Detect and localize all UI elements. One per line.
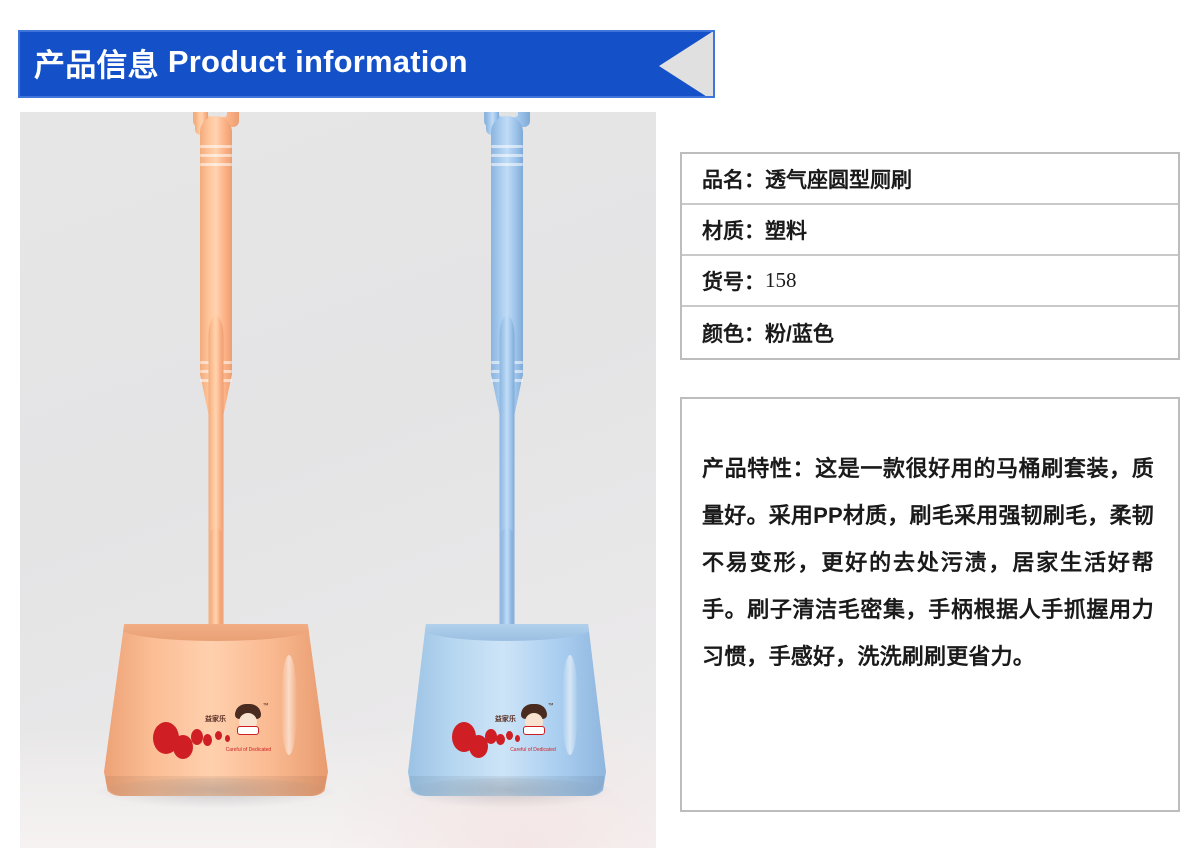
grip-ring: [200, 145, 232, 148]
banner-chevron-notch-icon: [659, 30, 715, 98]
decal-blob: [215, 731, 222, 740]
blue-brush-holder-base: 益家乐 ™ Careful of Dedicated: [408, 624, 606, 796]
decal-trademark: ™: [263, 703, 269, 709]
table-row: 颜色： 粉/蓝色: [682, 307, 1178, 358]
spec-value: 塑料: [765, 215, 807, 245]
product-description-text: 产品特性：这是一款很好用的马桶刷套装，质量好。采用PP材质，刷毛采用强韧刷毛，柔…: [702, 445, 1154, 680]
decal-brand-english: Careful of Dedicated: [510, 747, 556, 753]
decal-blob: [515, 735, 520, 742]
grip-ring: [491, 154, 523, 157]
grip-ring: [200, 154, 232, 157]
decal-trademark: ™: [548, 703, 554, 709]
product-photo: 益家乐 ™ Careful of Dedicated: [20, 112, 656, 848]
grip-ring: [491, 163, 523, 166]
product-description-box: 产品特性：这是一款很好用的马桶刷套装，质量好。采用PP材质，刷毛采用强韧刷毛，柔…: [680, 397, 1180, 812]
spec-value: 158: [765, 268, 797, 293]
base-highlight: [281, 655, 297, 755]
orange-brush-holder-base: 益家乐 ™ Careful of Dedicated: [104, 624, 328, 796]
spec-label: 品名：: [702, 164, 765, 194]
spec-label: 材质：: [702, 215, 765, 245]
base-highlight: [562, 655, 578, 755]
grip-ring: [491, 145, 523, 148]
decal-cartoon-face-icon: [521, 704, 547, 734]
spec-label: 颜色：: [702, 318, 765, 348]
product-shadow: [400, 778, 614, 808]
table-row: 材质： 塑料: [682, 205, 1178, 256]
decal-blob: [191, 729, 203, 745]
table-row: 货号： 158: [682, 256, 1178, 307]
product-spec-table: 品名： 透气座圆型厕刷 材质： 塑料 货号： 158 颜色： 粉/蓝色: [680, 152, 1180, 360]
page-header-banner: 产品信息 Product information: [18, 30, 715, 98]
page-title-chinese: 产品信息: [34, 40, 159, 85]
decal-blob: [485, 729, 497, 744]
spec-value: 粉/蓝色: [765, 318, 834, 348]
spec-value: 透气座圆型厕刷: [765, 164, 912, 194]
spec-label: 货号：: [702, 266, 765, 296]
decal-cartoon-face-icon: [235, 704, 261, 734]
decal-blob: [506, 731, 513, 740]
grip-ring: [200, 163, 232, 166]
blue-base-brand-decal: 益家乐 ™ Careful of Dedicated: [452, 703, 563, 755]
decal-brand-english: Careful of Dedicated: [226, 747, 272, 753]
page-title-english: Product information: [168, 44, 468, 80]
orange-base-brand-decal: 益家乐 ™ Careful of Dedicated: [153, 703, 278, 755]
product-shadow: [95, 778, 337, 808]
decal-brand-chinese: 益家乐: [205, 714, 226, 724]
table-row: 品名： 透气座圆型厕刷: [682, 154, 1178, 205]
decal-blob: [225, 735, 230, 742]
decal-brand-chinese: 益家乐: [495, 714, 516, 724]
decal-blob: [203, 734, 212, 746]
face-body: [237, 726, 259, 735]
page-title: 产品信息 Product information: [34, 30, 468, 94]
face-body: [523, 726, 545, 735]
decal-blob: [496, 734, 505, 745]
